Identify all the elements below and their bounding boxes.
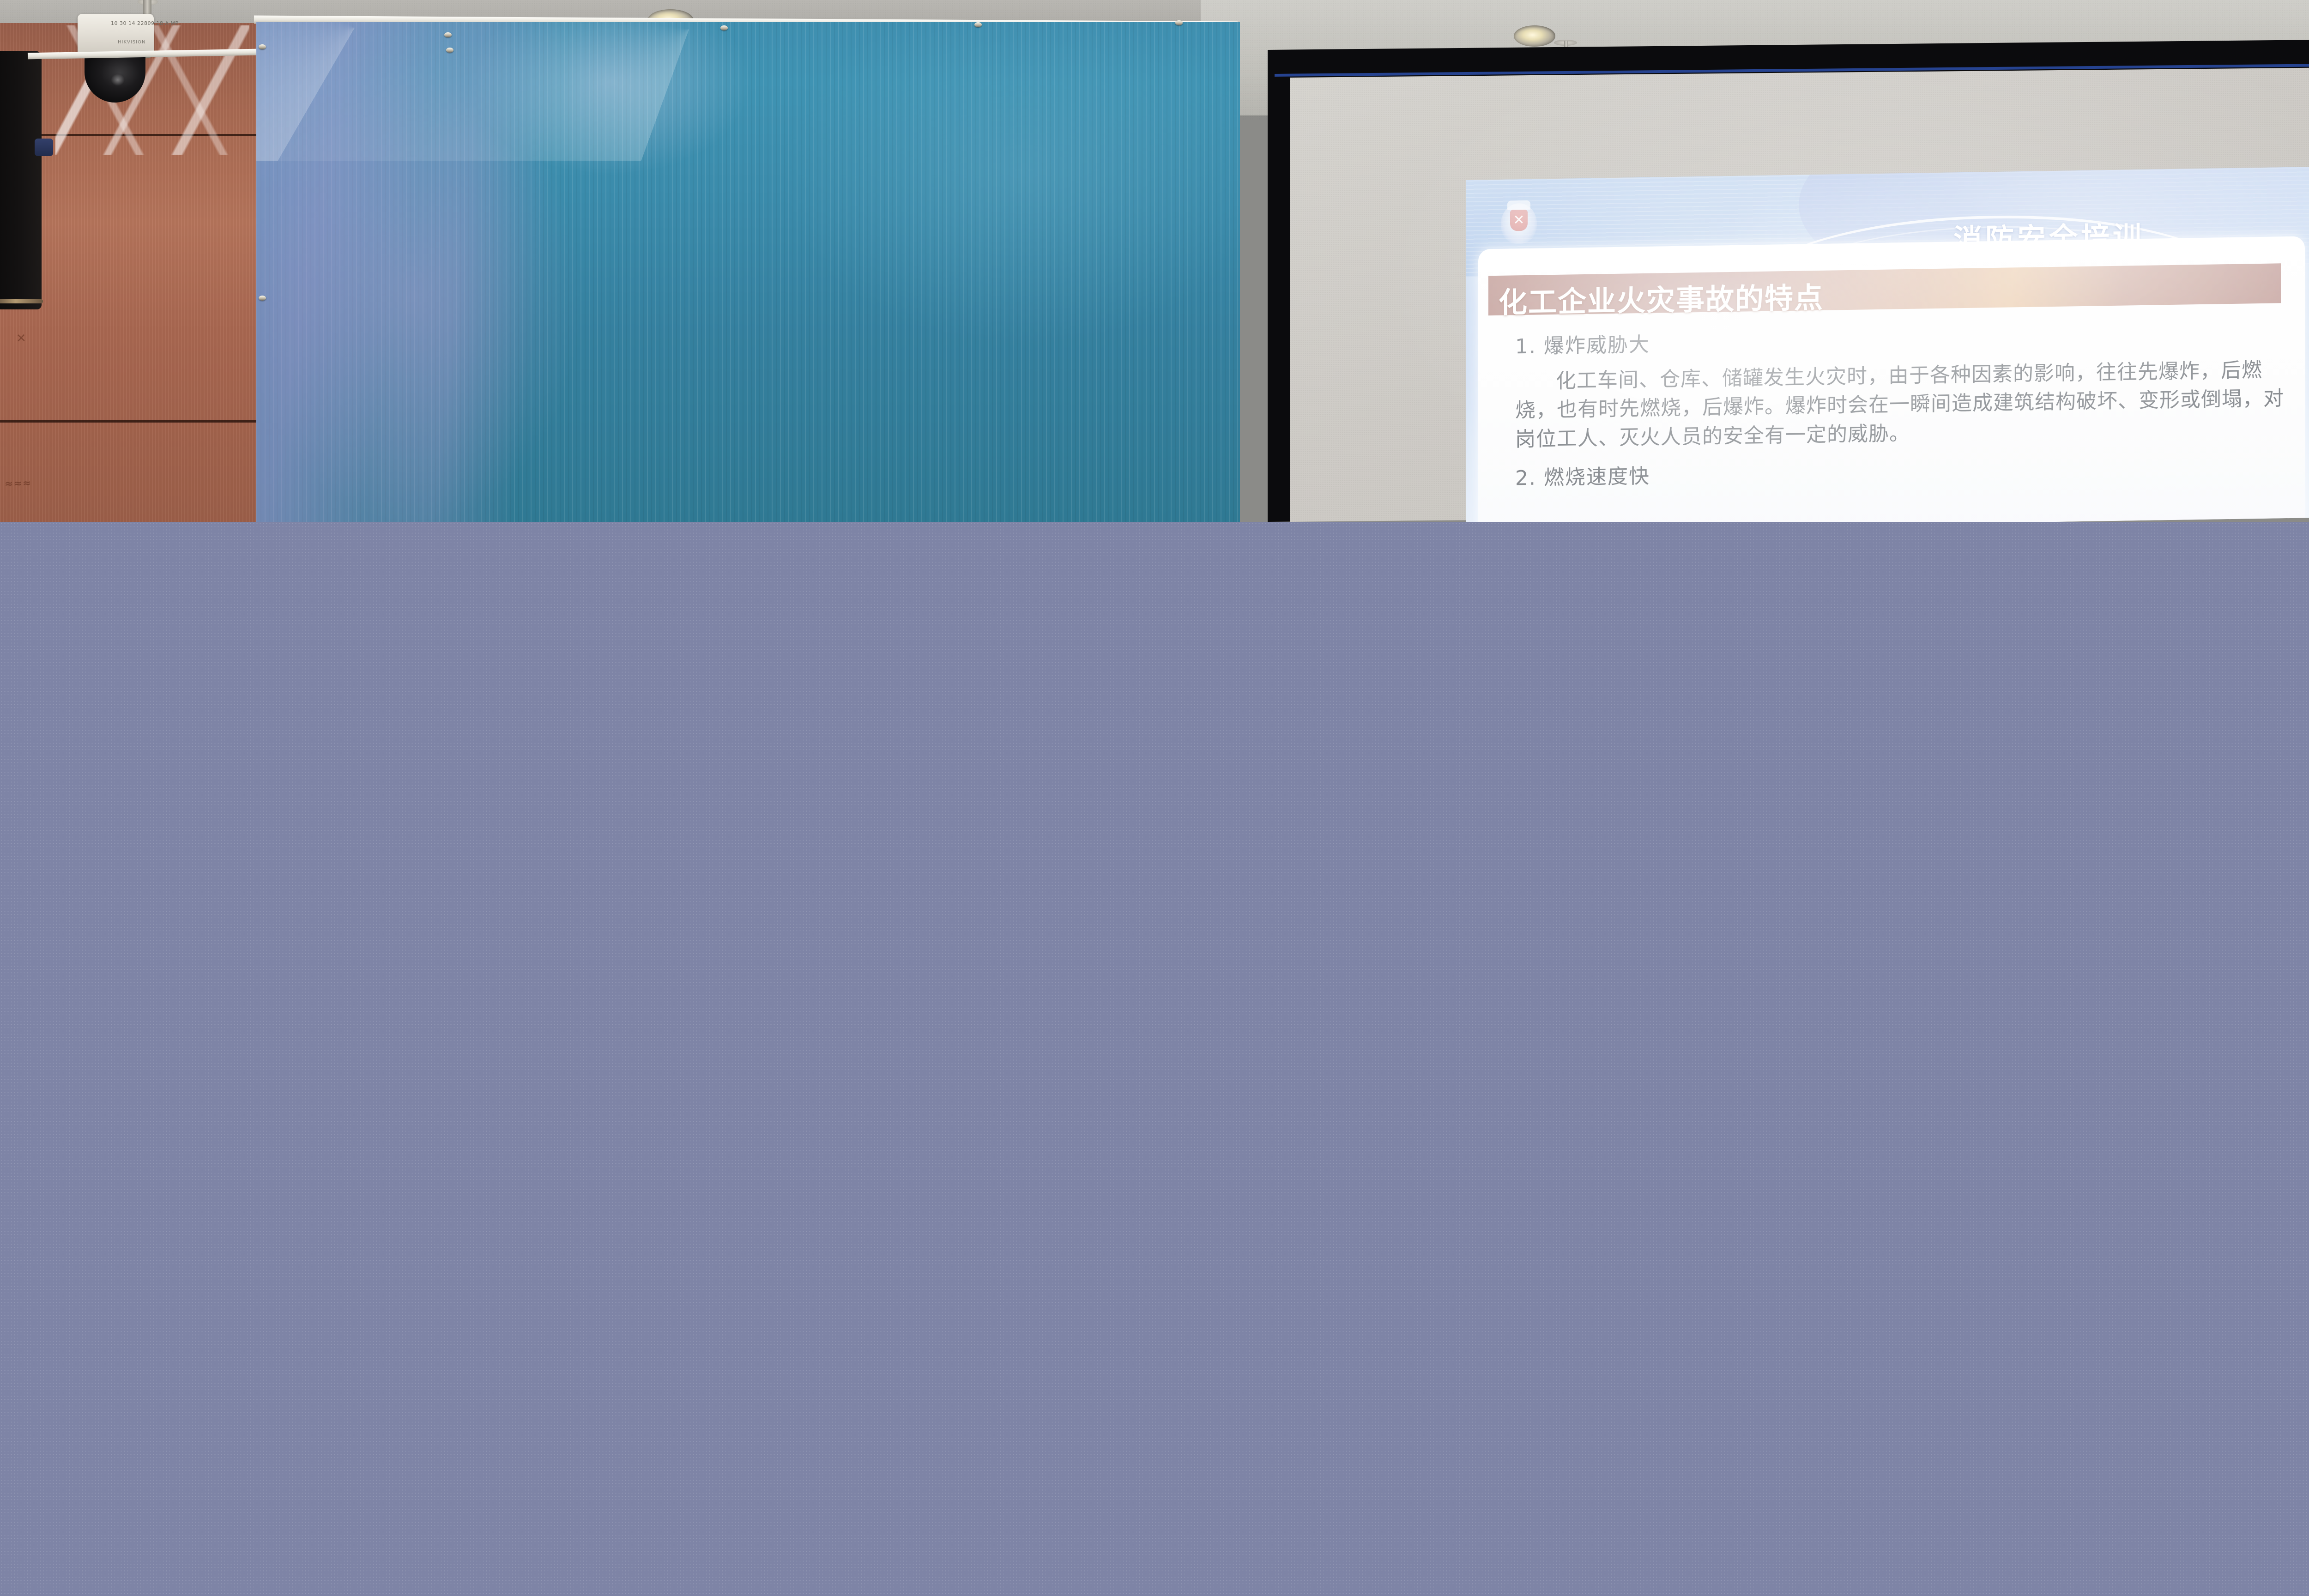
slide-section-title: 化工企业火灾事故的特点 bbox=[1499, 274, 1824, 321]
screenshot-root: ✕ ≈≈≈ 10 30 14 22809 18 A MP HIKVISION bbox=[0, 0, 2309, 1596]
projected-slide: ✕ 消防安全培训 化工企业火灾事故的特点 1. 爆炸威胁大 化工车间、仓库、储罐… bbox=[1466, 167, 2309, 522]
slide-item-heading: 2. 燃烧速度快 bbox=[1515, 449, 2291, 491]
dark-column-object bbox=[0, 51, 42, 309]
plywood-stamp: ✕ bbox=[16, 332, 27, 346]
badge-crest bbox=[1507, 200, 1530, 210]
ceiling-downlight-icon bbox=[1514, 25, 1555, 47]
camera-label: 10 30 14 22809 18 A MP bbox=[111, 20, 179, 26]
slide-body: 1. 爆炸威胁大 化工车间、仓库、储罐发生火灾时，由于各种因素的影响，往往先爆炸… bbox=[1515, 318, 2291, 491]
tarp-grommet bbox=[974, 22, 982, 27]
slide-item-heading: 1. 爆炸威胁大 bbox=[1515, 318, 2291, 359]
blue-cap-object bbox=[35, 139, 53, 156]
tarp-grommet bbox=[1175, 20, 1183, 25]
fire-service-badge: ✕ bbox=[1501, 199, 1537, 245]
tarp-grommet bbox=[259, 44, 266, 49]
tarp-grommet bbox=[259, 296, 266, 301]
room-photo: ✕ ≈≈≈ 10 30 14 22809 18 A MP HIKVISION bbox=[0, 0, 2309, 522]
plywood-stamp: ≈≈≈ bbox=[5, 478, 32, 490]
slide-content-card: 化工企业火灾事故的特点 1. 爆炸威胁大 化工车间、仓库、储罐发生火灾时，由于各… bbox=[1478, 236, 2305, 522]
tarp-grommet bbox=[446, 48, 453, 53]
camera-dome-glint bbox=[111, 74, 125, 86]
badge-symbol: ✕ bbox=[1512, 213, 1526, 227]
bottom-overlay-panel bbox=[0, 522, 2309, 1596]
dark-column-base bbox=[0, 299, 43, 303]
slide-item-paragraph: 化工车间、仓库、储罐发生火灾时，由于各种因素的影响，往往先爆炸，后燃烧，也有时先… bbox=[1515, 356, 2291, 454]
plywood-seam bbox=[0, 420, 259, 423]
tarp-grommet bbox=[720, 25, 728, 30]
overlay-dot-texture bbox=[0, 522, 2309, 1596]
blue-tarp-folds bbox=[256, 22, 1240, 161]
tarp-grommet bbox=[444, 32, 452, 37]
camera-brand: HIKVISION bbox=[118, 40, 145, 45]
